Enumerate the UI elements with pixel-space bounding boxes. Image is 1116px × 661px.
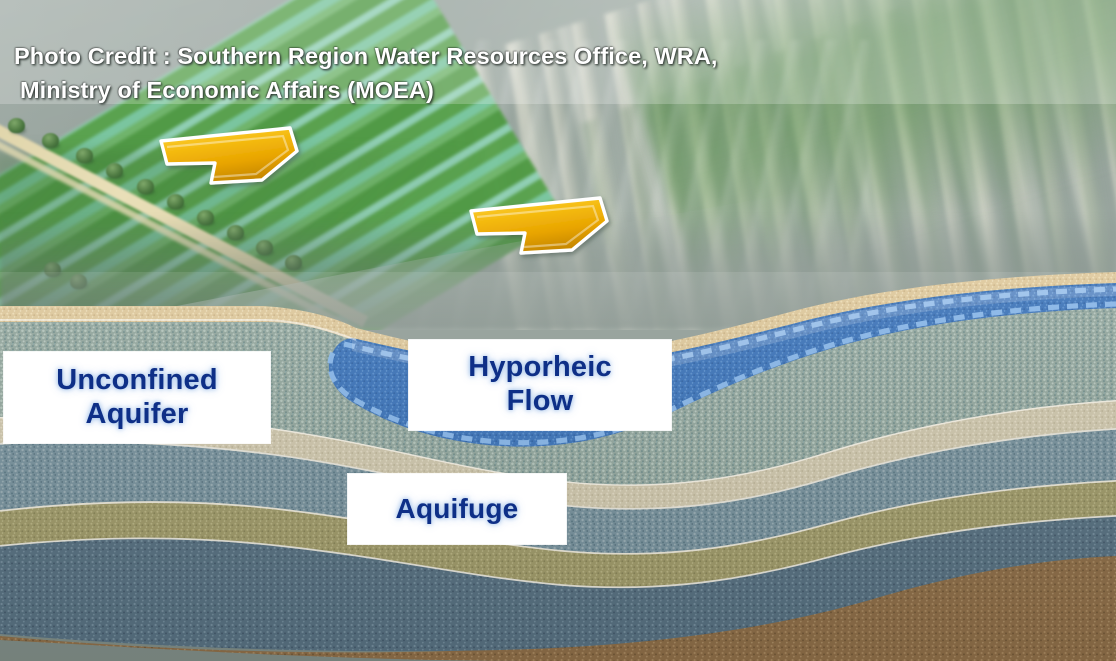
diagram-canvas: Photo Credit : Southern Region Water Res… <box>0 0 1116 661</box>
photo-credit-line-1: Photo Credit : Southern Region Water Res… <box>14 43 718 69</box>
section-shading <box>0 272 1116 661</box>
label-aquifuge-text: Aquifuge <box>396 493 519 525</box>
label-unconfined-aquifer-text: Unconfined Aquifer <box>56 364 218 431</box>
photo-credit-line-2: Ministry of Economic Affairs (MOEA) <box>14 74 1014 107</box>
label-hyporheic-flow-text: Hyporheic Flow <box>468 351 612 418</box>
label-unconfined-aquifer: Unconfined Aquifer <box>4 352 270 443</box>
label-hyporheic-flow: Hyporheic Flow <box>409 340 671 430</box>
label-aquifuge: Aquifuge <box>348 474 566 544</box>
photo-credit: Photo Credit : Southern Region Water Res… <box>14 7 1014 140</box>
